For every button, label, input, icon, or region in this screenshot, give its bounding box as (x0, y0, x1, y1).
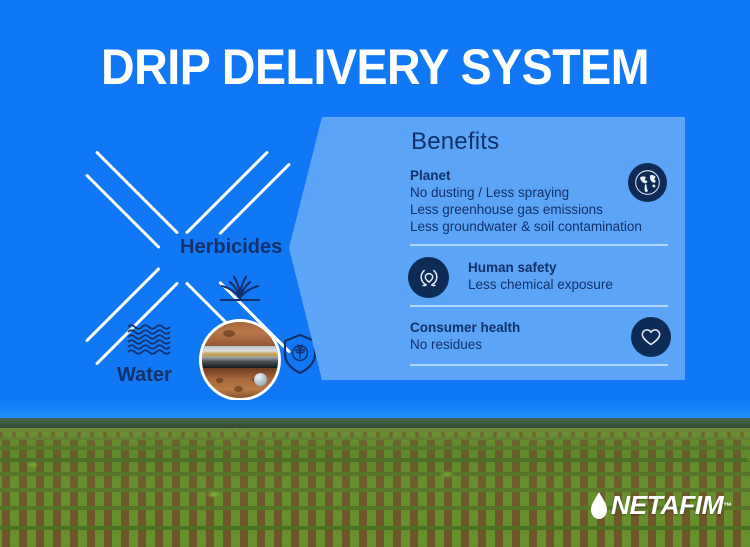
benefit-line: Less greenhouse gas emissions (410, 201, 642, 218)
benefits-heading: Benefits (411, 128, 499, 156)
infographic-canvas: DRIP DELIVERY SYSTEM (0, 0, 750, 547)
input-label-water: Water (117, 364, 172, 387)
photo-speck (216, 378, 223, 383)
drip-line-photo (199, 319, 281, 401)
diagram-arm-tr-a (185, 150, 269, 234)
logo-trademark: ™ (723, 501, 732, 511)
crop-plants (0, 430, 750, 547)
input-label-herbicides: Herbicides (180, 236, 282, 259)
water-waves-icon (125, 323, 175, 364)
photo-soil-bottom (202, 368, 278, 398)
diagram-arm-tr-b (218, 162, 291, 235)
netafim-logo: NETAFIM ™ (589, 490, 732, 521)
caring-hands-icon (408, 257, 449, 298)
photo-soil-top (202, 322, 278, 348)
photo-speck (223, 330, 235, 337)
weed-plant-icon (216, 270, 264, 309)
photo-drip-tape (199, 346, 281, 369)
photo-speck (234, 386, 243, 392)
photo-crop-rows (0, 430, 750, 547)
benefits-divider (410, 244, 668, 246)
heart-icon (631, 317, 671, 357)
globe-icon (628, 163, 667, 202)
field-photo: NETAFIM ™ (0, 400, 750, 547)
benefit-line: Less groundwater & soil contamination (410, 218, 642, 235)
benefit-line: No dusting / Less spraying (410, 184, 642, 201)
benefit-human-safety: Human safety Less chemical exposure (468, 259, 613, 293)
benefits-divider (410, 364, 668, 366)
benefit-title: Human safety (468, 259, 613, 276)
benefit-consumer-health: Consumer health No residues (410, 319, 520, 353)
benefits-divider (410, 305, 668, 307)
benefit-line: No residues (410, 336, 520, 353)
water-drop-icon (589, 491, 609, 521)
benefit-planet: Planet No dusting / Less spraying Less g… (410, 167, 642, 235)
page-title: DRIP DELIVERY SYSTEM (26, 38, 724, 96)
benefit-title: Planet (410, 167, 642, 184)
logo-wordmark: NETAFIM (611, 490, 723, 521)
diagram-arm-tl-a (95, 150, 179, 234)
diagram-arm-tl-b (85, 173, 161, 249)
benefit-title: Consumer health (410, 319, 520, 336)
benefit-line: Less chemical exposure (468, 276, 613, 293)
